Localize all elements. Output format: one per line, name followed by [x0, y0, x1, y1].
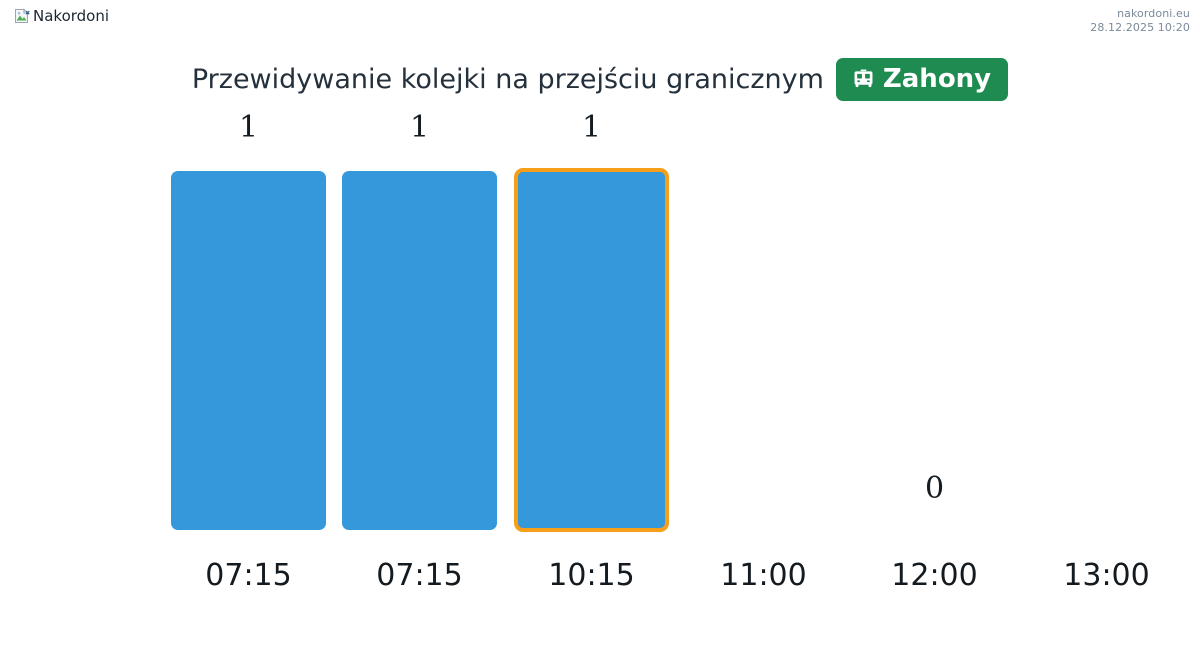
bar-value-label: 0	[857, 471, 1012, 507]
bar-value-label: 1	[514, 110, 669, 146]
queue-forecast-chart: 1 07:15 1 07:15 1 10:15 11:00 0 12:00 13…	[171, 110, 1200, 610]
chart-column[interactable]: 13:00	[1029, 110, 1184, 610]
bar-highlighted[interactable]	[514, 168, 669, 532]
page-header: Nakordoni nakordoni.eu 28.12.2025 10:20	[0, 0, 1200, 40]
chart-column-current[interactable]: 1 10:15	[514, 110, 669, 610]
chart-column[interactable]: 11:00	[686, 110, 841, 610]
bar[interactable]	[171, 171, 326, 530]
header-meta: nakordoni.eu 28.12.2025 10:20	[1090, 7, 1190, 35]
bar-value-label: 1	[342, 110, 497, 146]
bus-icon	[851, 67, 876, 92]
x-tick-label: 07:15	[171, 558, 326, 594]
x-tick-label: 13:00	[1029, 558, 1184, 594]
x-tick-label: 10:15	[514, 558, 669, 594]
page-title: Przewidywanie kolejki na przejściu grani…	[192, 64, 824, 95]
title-row: Przewidywanie kolejki na przejściu grani…	[0, 58, 1200, 101]
bar[interactable]	[342, 171, 497, 530]
chart-column[interactable]: 1 07:15	[171, 110, 326, 610]
chart-column[interactable]: 1 07:15	[342, 110, 497, 610]
x-tick-label: 11:00	[686, 558, 841, 594]
brand-label: Nakordoni	[33, 9, 109, 24]
chart-column[interactable]: 0 12:00	[857, 110, 1012, 610]
x-tick-label: 07:15	[342, 558, 497, 594]
station-badge[interactable]: Zahony	[836, 58, 1008, 101]
bar-value-label: 1	[171, 110, 326, 146]
site-domain: nakordoni.eu	[1090, 7, 1190, 21]
broken-image-icon	[14, 8, 30, 24]
station-badge-label: Zahony	[883, 66, 991, 92]
x-tick-label: 12:00	[857, 558, 1012, 594]
timestamp: 28.12.2025 10:20	[1090, 21, 1190, 35]
brand-logo[interactable]: Nakordoni	[14, 8, 109, 24]
